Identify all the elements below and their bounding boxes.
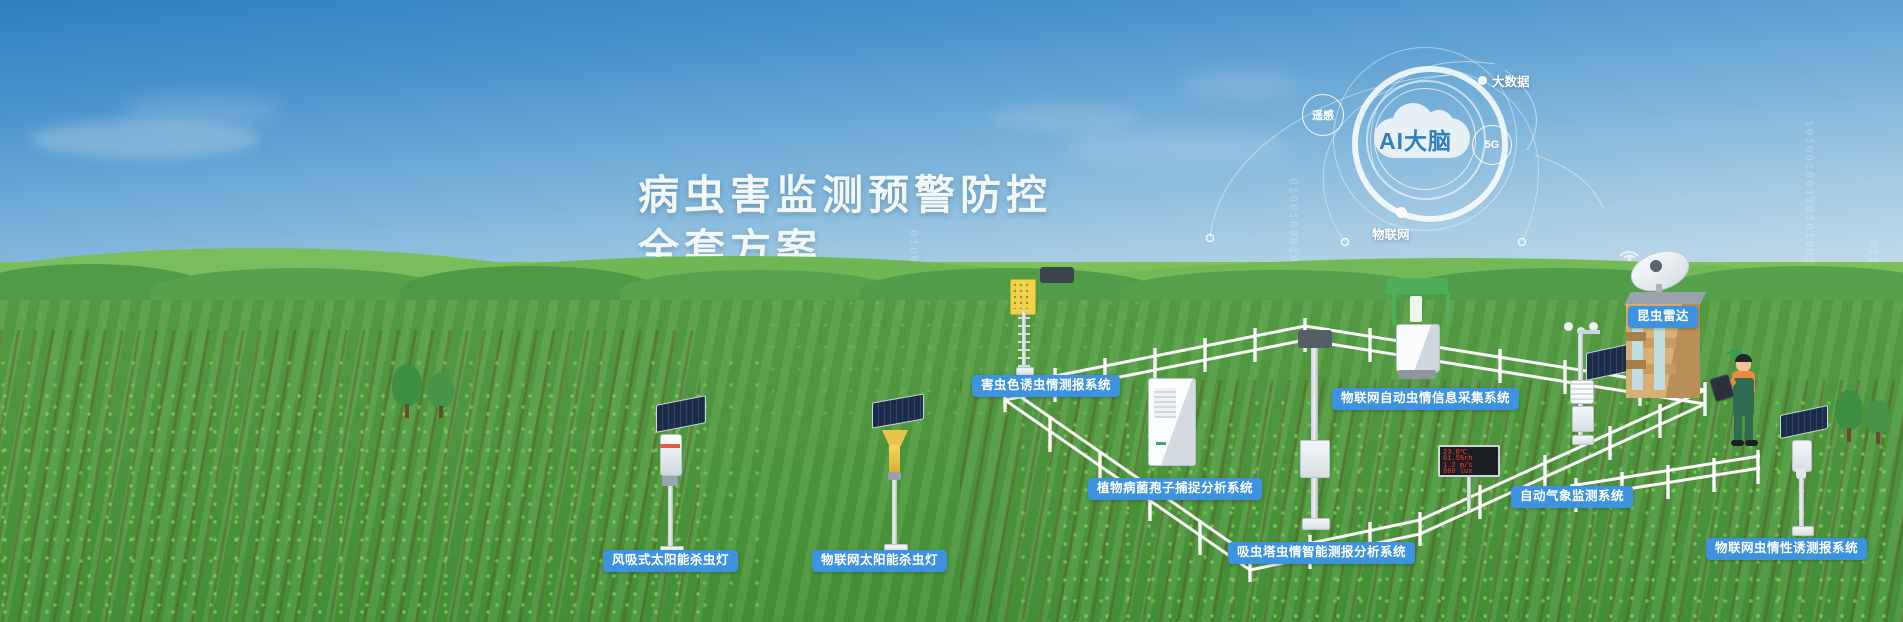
pole-base bbox=[1792, 526, 1814, 536]
lamp-body bbox=[660, 434, 682, 476]
farmer-shoe bbox=[1745, 440, 1758, 446]
tree-canopy bbox=[1866, 400, 1890, 434]
tree-canopy bbox=[428, 372, 454, 408]
lamp-tube bbox=[889, 445, 900, 473]
tree-canopy bbox=[392, 364, 422, 406]
farmer-figure bbox=[1710, 342, 1770, 452]
led-line-4: 860 lux bbox=[1443, 469, 1495, 475]
sensor-head bbox=[1040, 267, 1074, 283]
crop-plants bbox=[0, 390, 700, 622]
tower-pole bbox=[1311, 348, 1318, 520]
building-balcony bbox=[1626, 332, 1646, 341]
wifi-icon bbox=[1616, 240, 1642, 262]
support-pole bbox=[892, 480, 897, 546]
farmer-shoe bbox=[1731, 440, 1744, 446]
trap-pattern bbox=[1013, 283, 1031, 309]
collector-base bbox=[1398, 370, 1436, 379]
label-auto-weather-monitoring[interactable]: 自动气象监测系统 bbox=[1511, 486, 1633, 508]
farmer-leg bbox=[1734, 414, 1742, 442]
mast-base bbox=[1572, 435, 1594, 445]
node-5g[interactable]: 5G bbox=[1472, 125, 1512, 165]
label-insect-radar[interactable]: 昆虫雷达 bbox=[1628, 306, 1698, 328]
label-spore-capture-analysis[interactable]: 植物病菌孢子捕捉分析系统 bbox=[1088, 478, 1262, 500]
node-label: 5G bbox=[1485, 139, 1500, 151]
node-bigdata-dot[interactable] bbox=[1478, 76, 1487, 85]
cabinet-indicator bbox=[1156, 442, 1166, 445]
support-pole bbox=[668, 486, 673, 548]
radiation-shield bbox=[1570, 380, 1594, 404]
device-wind-suction-solar-insect-lamp[interactable] bbox=[638, 400, 708, 560]
tower-head bbox=[1298, 330, 1332, 348]
support-pole bbox=[1799, 478, 1804, 528]
cloud-shape bbox=[30, 120, 260, 158]
device-iot-pheromone-forecast[interactable] bbox=[1772, 410, 1842, 540]
node-iot-dot[interactable] bbox=[1396, 207, 1407, 218]
tower-cabinet bbox=[1300, 440, 1330, 478]
node-label: 遥感 bbox=[1312, 107, 1334, 123]
solar-panel bbox=[656, 395, 706, 433]
device-suction-tower-forecast[interactable] bbox=[1290, 330, 1350, 540]
dish-feed bbox=[1650, 260, 1662, 272]
tower-base bbox=[1302, 518, 1330, 530]
device-color-lure-pest-forecast[interactable] bbox=[1000, 265, 1090, 375]
ai-core-label: AI大脑 bbox=[1379, 122, 1452, 156]
device-iot-auto-pest-info-collection[interactable] bbox=[1382, 278, 1462, 388]
farmer-hair bbox=[1735, 354, 1752, 362]
tree-trunk bbox=[1847, 428, 1851, 442]
label-iot-solar-insect-lamp[interactable]: 物联网太阳能杀虫灯 bbox=[812, 550, 947, 572]
node-remote-sensing[interactable]: 遥感 bbox=[1302, 94, 1344, 136]
label-color-lure-pest-forecast[interactable]: 害虫色诱虫情测报系统 bbox=[972, 375, 1120, 397]
ladder-rungs bbox=[1018, 313, 1030, 367]
label-iot-auto-pest-info-collection[interactable]: 物联网自动虫情信息采集系统 bbox=[1332, 388, 1519, 410]
device-iot-solar-insect-lamp[interactable] bbox=[860, 398, 930, 558]
node-iot-label: 物联网 bbox=[1372, 224, 1410, 243]
crop-plants bbox=[770, 300, 1150, 420]
label-wind-suction-solar-insect-lamp[interactable]: 风吸式太阳能杀虫灯 bbox=[603, 550, 738, 572]
tree-trunk bbox=[439, 406, 443, 418]
lamp-collector bbox=[888, 472, 901, 480]
accent-stripe bbox=[660, 444, 680, 448]
board-pole bbox=[1467, 477, 1471, 511]
tree-trunk bbox=[405, 404, 409, 418]
canopy-roof bbox=[1386, 278, 1448, 294]
cabinet-vent bbox=[1154, 388, 1176, 418]
lamp-funnel bbox=[882, 430, 908, 446]
solar-panel bbox=[872, 393, 924, 428]
building-balcony bbox=[1626, 360, 1646, 369]
cloud-shape bbox=[120, 96, 280, 126]
lamp-collector bbox=[662, 476, 678, 486]
cloud-shape bbox=[990, 104, 1140, 132]
solar-panel bbox=[1780, 405, 1828, 439]
label-iot-pheromone-forecast[interactable]: 物联网虫情性诱测报系统 bbox=[1706, 538, 1867, 560]
led-display-board[interactable]: 23.0℃ 61.5%rh 1.2 m/s 860 lux bbox=[1438, 445, 1508, 515]
lamp-core bbox=[1410, 296, 1422, 322]
collector-body bbox=[1396, 324, 1440, 372]
node-bigdata-label: 大数据 bbox=[1492, 71, 1530, 90]
illustration-banner: 010010011010010110 01001000101100101 101… bbox=[0, 0, 1903, 622]
controller-box bbox=[1572, 406, 1594, 432]
farmer-overalls bbox=[1733, 378, 1754, 416]
farmer-leg bbox=[1745, 414, 1753, 442]
title-line-1: 病虫害监测预警防控 bbox=[638, 168, 1052, 222]
tree-trunk bbox=[1876, 432, 1880, 444]
led-frame: 23.0℃ 61.5%rh 1.2 m/s 860 lux bbox=[1438, 445, 1500, 477]
label-suction-tower-forecast[interactable]: 吸虫塔虫情智能测报分析系统 bbox=[1228, 542, 1415, 564]
device-spore-capture-analysis[interactable] bbox=[1148, 378, 1208, 474]
